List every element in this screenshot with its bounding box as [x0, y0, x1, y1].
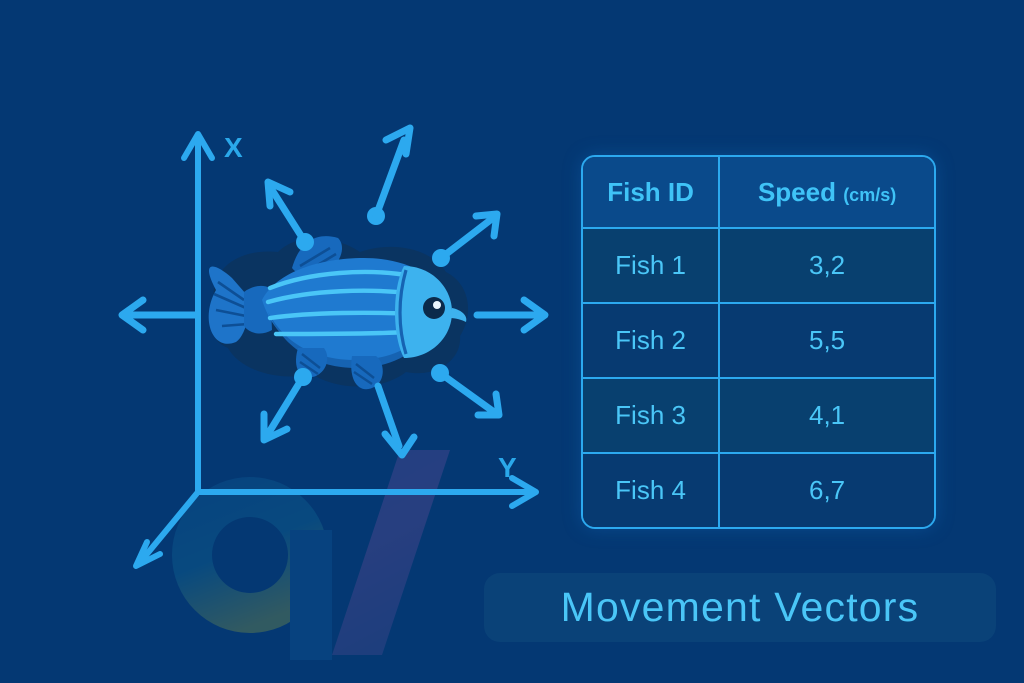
vector-arrow-down — [378, 386, 414, 455]
cell-fish-id: Fish 1 — [583, 229, 720, 302]
cell-speed: 5,5 — [720, 302, 934, 377]
table-header: Fish ID Speed (cm/s) — [583, 157, 934, 229]
vector-arrow-down-right — [431, 364, 499, 415]
caption-pill: Movement Vectors — [484, 573, 996, 642]
caption-label: Movement Vectors — [561, 584, 920, 631]
vector-arrow-down-left — [264, 368, 312, 440]
column-header-speed: Speed (cm/s) — [720, 157, 934, 229]
vector-arrow-right — [477, 300, 545, 330]
infographic-canvas: X Y — [0, 0, 1024, 683]
vector-arrow-up-right-long — [367, 128, 410, 225]
column-header-speed-unit: (cm/s) — [843, 185, 896, 205]
table-row: Fish 3 4,1 — [583, 377, 934, 452]
cell-fish-id: Fish 4 — [583, 452, 720, 527]
cell-speed: 3,2 — [720, 229, 934, 302]
cell-fish-id: Fish 2 — [583, 302, 720, 377]
table-row: Fish 2 5,5 — [583, 302, 934, 377]
fish-speed-table: Fish ID Speed (cm/s) Fish 1 3,2 Fish 2 5… — [581, 155, 936, 529]
column-header-fish-id: Fish ID — [583, 157, 720, 229]
table-row: Fish 1 3,2 — [583, 229, 934, 302]
table-header-row: Fish ID Speed (cm/s) — [583, 157, 934, 229]
vector-arrow-up-left — [268, 182, 314, 251]
cell-speed: 6,7 — [720, 452, 934, 527]
vector-arrow-up-right-short — [432, 214, 497, 267]
table-body: Fish 1 3,2 Fish 2 5,5 Fish 3 4,1 Fish 4 … — [583, 229, 934, 527]
cell-fish-id: Fish 3 — [583, 377, 720, 452]
column-header-speed-label: Speed — [758, 177, 843, 207]
vector-arrow-left — [122, 300, 196, 330]
table-row: Fish 4 6,7 — [583, 452, 934, 527]
cell-speed: 4,1 — [720, 377, 934, 452]
